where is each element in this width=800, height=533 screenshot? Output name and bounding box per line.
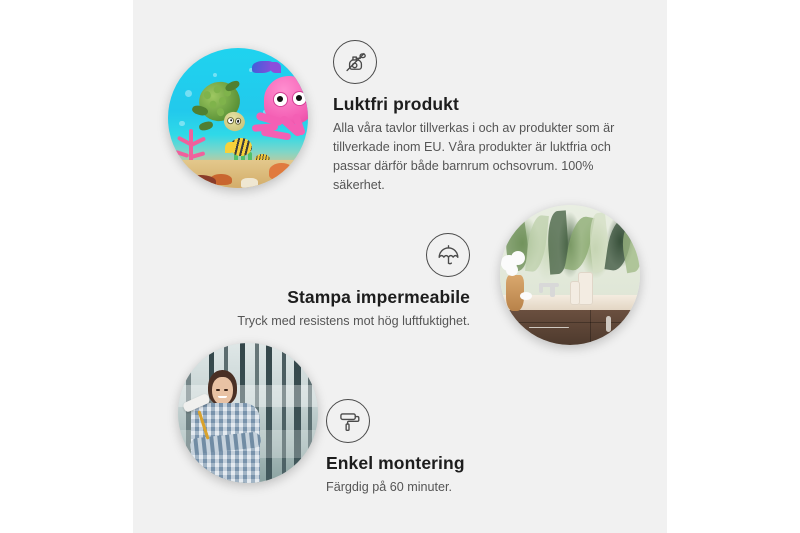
feature-description: Färgdig på 60 minuter. (326, 478, 616, 497)
spray-bottle-crossed-out-icon (333, 40, 377, 84)
feature-title: Enkel montering (326, 453, 616, 474)
paint-roller-icon (326, 399, 370, 443)
promo-infographic: Luktfri produkt Alla våra tavlor tillver… (0, 0, 800, 533)
umbrella-icon (426, 233, 470, 277)
feature-title: Luktfri produkt (333, 94, 623, 115)
feature-odour-free: Luktfri produkt Alla våra tavlor tillver… (333, 40, 623, 195)
soap-bottle (578, 272, 593, 305)
woman-with-roller (186, 368, 264, 483)
feature-image-woman-with-paint-roller-forest (178, 343, 318, 483)
cabinet-handle (529, 327, 568, 328)
feature-easy-assembly: Enkel montering Färgdig på 60 minuter. (326, 399, 616, 497)
feature-description: Tryck med resistens mot hög luftfuktighe… (180, 312, 470, 331)
feature-description: Alla våra tavlor tillverkas i och av pro… (333, 119, 623, 195)
feature-image-underwater-kids-mural (168, 48, 308, 188)
feature-waterproof-print: Stampa impermeabile Tryck med resistens … (180, 233, 470, 331)
feature-title: Stampa impermeabile (180, 287, 470, 308)
feature-image-bathroom-tropical-wallpaper (500, 205, 640, 345)
octopus (252, 76, 308, 153)
